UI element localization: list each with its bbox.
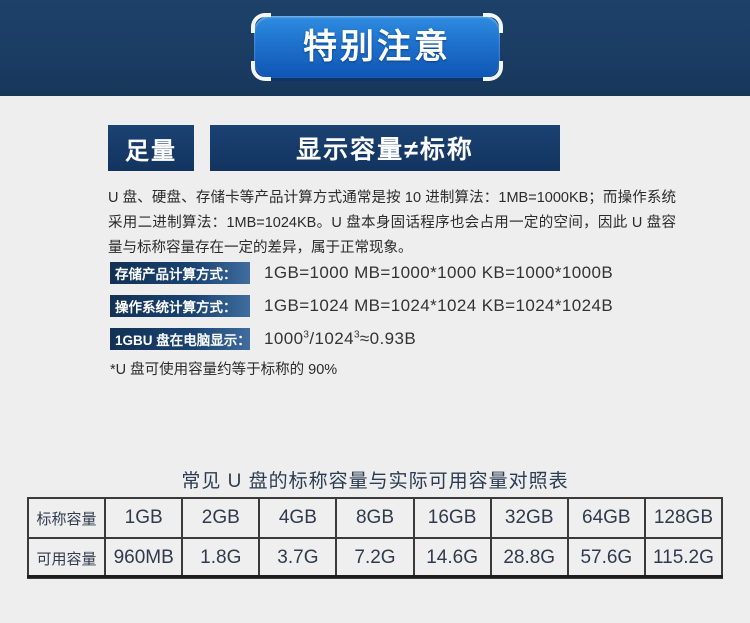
quantity-badge: 足量 — [108, 125, 194, 171]
table-row: 可用容量 960MB 1.8G 3.7G 7.2G 14.6G 28.8G 57… — [28, 538, 722, 578]
table-cell: 16GB — [414, 498, 491, 538]
table-cell: 4GB — [259, 498, 336, 538]
formula-list: 存储产品计算方式： 1GB=1000 MB=1000*1000 KB=1000*… — [110, 262, 710, 361]
row-header-available: 可用容量 — [28, 538, 105, 578]
formula-row: 1GBU 盘在电脑显示： 10003/10243≈0.93B — [110, 328, 710, 350]
explanation-paragraph: U 盘、硬盘、存储卡等产品计算方式通常是按 10 进制算法：1MB=1000KB… — [108, 186, 676, 261]
table-cell: 14.6G — [414, 538, 491, 578]
table-cell: 57.6G — [568, 538, 645, 578]
table-cell: 7.2G — [336, 538, 413, 578]
section-heading: 显示容量≠标称 — [210, 125, 560, 171]
formula-row: 操作系统计算方式： 1GB=1024 MB=1024*1024 KB=1024*… — [110, 295, 710, 317]
formula-value: 1GB=1024 MB=1024*1024 KB=1024*1024B — [264, 296, 613, 316]
corner-bracket-top-left-icon — [251, 13, 271, 33]
corner-bracket-top-right-icon — [483, 13, 503, 33]
banner-title-text: 特别注意 — [303, 30, 451, 64]
formula-row: 存储产品计算方式： 1GB=1000 MB=1000*1000 KB=1000*… — [110, 262, 710, 284]
formula-base-2: /1024 — [309, 329, 354, 348]
table-cell: 28.8G — [491, 538, 568, 578]
table-cell: 64GB — [568, 498, 645, 538]
corner-bracket-bottom-left-icon — [251, 61, 271, 81]
table-cell: 3.7G — [259, 538, 336, 578]
table-bottom-shadow — [27, 575, 723, 578]
content-area: 足量 显示容量≠标称 U 盘、硬盘、存储卡等产品计算方式通常是按 10 进制算法… — [0, 96, 750, 623]
table-title: 常见 U 盘的标称容量与实际可用容量对照表 — [0, 466, 750, 493]
formula-label: 操作系统计算方式： — [110, 295, 250, 317]
formula-label: 存储产品计算方式： — [110, 262, 250, 284]
formula-label: 1GBU 盘在电脑显示： — [110, 328, 250, 350]
banner-title-button: 特别注意 — [254, 16, 500, 78]
formula-value: 1GB=1000 MB=1000*1000 KB=1000*1000B — [264, 263, 613, 283]
formula-base-1: 1000 — [264, 329, 303, 348]
row-header-nominal: 标称容量 — [28, 498, 105, 538]
top-banner: 特别注意 — [0, 0, 750, 96]
formula-result: ≈0.93B — [360, 329, 416, 348]
table-cell: 1GB — [105, 498, 182, 538]
formula-value: 10003/10243≈0.93B — [264, 329, 416, 349]
table-cell: 115.2G — [645, 538, 722, 578]
table-cell: 960MB — [105, 538, 182, 578]
corner-bracket-bottom-right-icon — [483, 61, 503, 81]
capacity-table: 标称容量 1GB 2GB 4GB 8GB 16GB 32GB 64GB 128G… — [27, 497, 723, 579]
table-cell: 2GB — [182, 498, 259, 538]
table-cell: 128GB — [645, 498, 722, 538]
section-header: 足量 显示容量≠标称 — [108, 125, 560, 171]
table-cell: 1.8G — [182, 538, 259, 578]
table-row: 标称容量 1GB 2GB 4GB 8GB 16GB 32GB 64GB 128G… — [28, 498, 722, 538]
table-cell: 8GB — [336, 498, 413, 538]
footnote-text: *U 盘可使用容量约等于标称的 90% — [110, 358, 337, 379]
table-cell: 32GB — [491, 498, 568, 538]
